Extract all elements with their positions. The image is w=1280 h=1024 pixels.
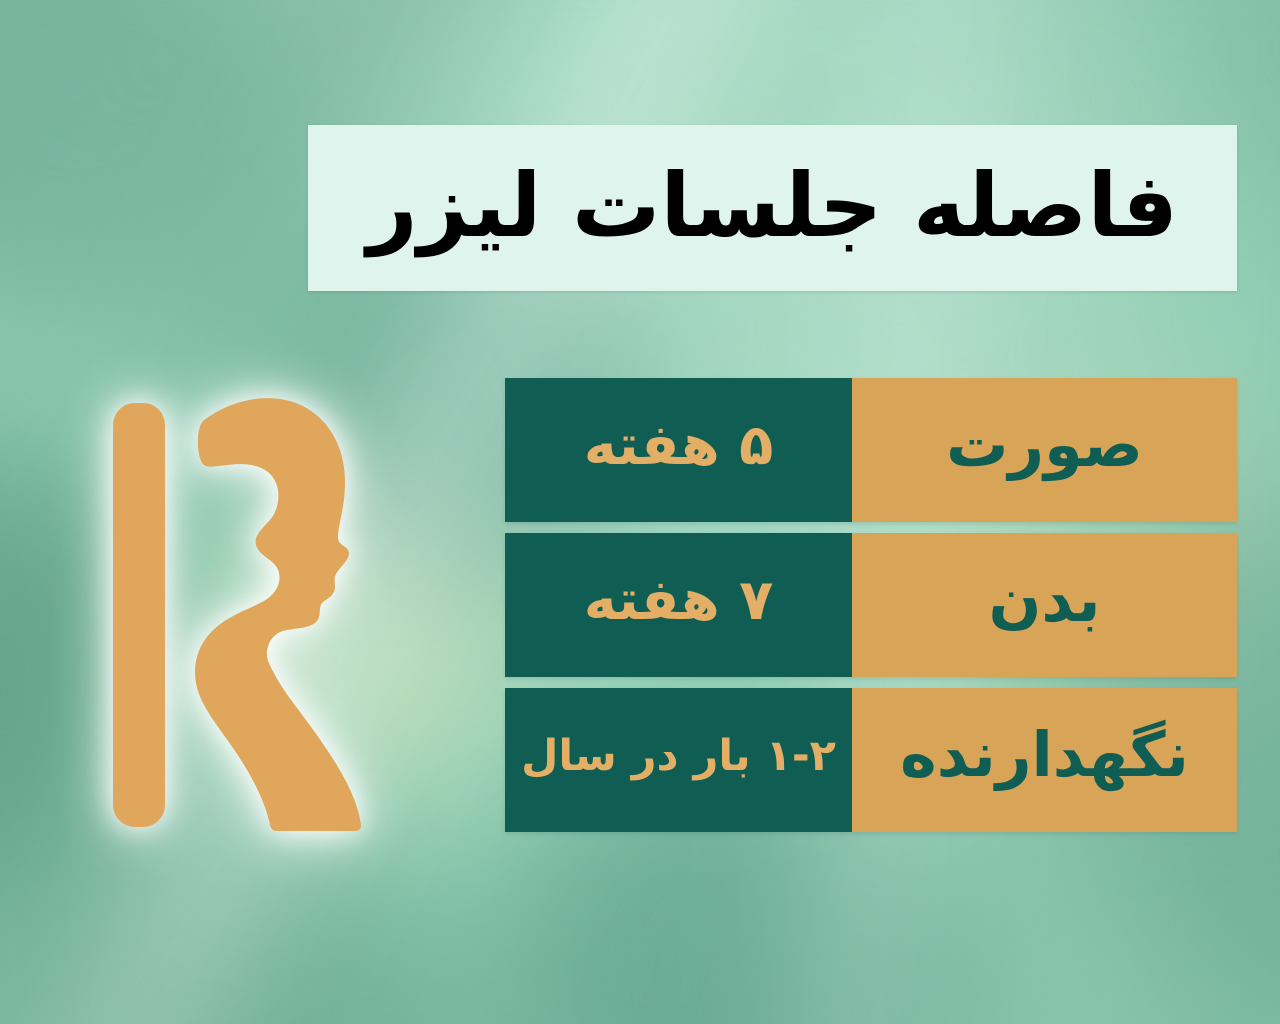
row-value-text: ۷ هفته: [584, 573, 774, 629]
clinic-logo: [95, 385, 415, 845]
logo-bar-icon: [113, 403, 165, 827]
row-value-text: ۵ هفته: [584, 418, 774, 474]
table-cell-label: نگهدارنده: [852, 688, 1237, 832]
treatment-interval-table: صورت ۵ هفته بدن ۷ هفته نگهدارنده ۱-۲ بار…: [505, 378, 1237, 832]
table-row: بدن ۷ هفته: [505, 533, 1237, 677]
table-row: نگهدارنده ۱-۲ بار در سال: [505, 688, 1237, 832]
row-value-text: ۱-۲ بار در سال: [521, 735, 836, 778]
table-cell-label: صورت: [852, 378, 1237, 522]
table-cell-value: ۷ هفته: [505, 533, 852, 677]
table-cell-value: ۵ هفته: [505, 378, 852, 522]
table-row: صورت ۵ هفته: [505, 378, 1237, 522]
logo-woman-profile-icon: [195, 398, 361, 831]
row-label-text: بدن: [989, 569, 1101, 631]
table-cell-label: بدن: [852, 533, 1237, 677]
row-label-text: صورت: [946, 414, 1143, 476]
table-cell-value: ۱-۲ بار در سال: [505, 688, 852, 832]
page-title: فاصله جلسات لیزر: [367, 162, 1178, 250]
title-banner: فاصله جلسات لیزر: [308, 125, 1237, 291]
row-label-text: نگهدارنده: [900, 724, 1189, 786]
